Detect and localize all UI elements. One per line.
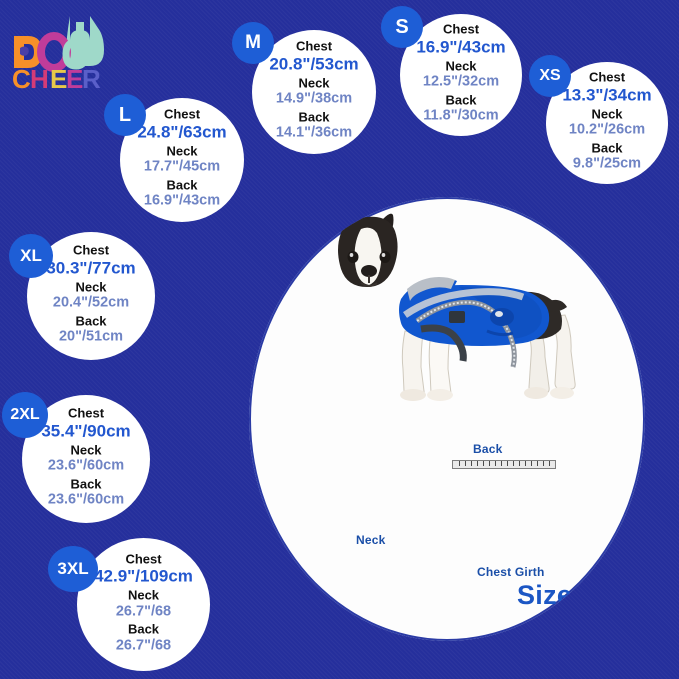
main-content-circle: Back Neck Chest Girth Size Tip: 1. Pleas… <box>249 197 645 641</box>
size-badge-2xl[interactable]: 2XL <box>2 392 48 438</box>
svg-text:E: E <box>50 64 67 94</box>
diagram-label-chest-girth: Chest Girth <box>477 565 545 579</box>
size-s-neck-label: Neck <box>406 60 516 75</box>
size-s-chest-value: 16.9"/43cm <box>406 37 516 57</box>
brand-logo: C H E E R <box>8 8 118 94</box>
size-badge-m[interactable]: M <box>232 22 274 64</box>
size-3xl-back-value: 26.7"/68 <box>83 638 204 655</box>
size-l-neck-value: 17.7"/45cm <box>126 159 238 176</box>
size-2xl-neck-value: 23.6"/60cm <box>28 458 144 475</box>
size-tip-item-1-number: 1. <box>517 624 529 641</box>
size-3xl-back-label: Back <box>83 623 204 638</box>
size-l-back-value: 16.9"/43cm <box>126 193 238 210</box>
size-xl-neck-label: Neck <box>33 281 149 296</box>
size-xl-neck-value: 20.4"/52cm <box>33 295 149 312</box>
size-xl-back-value: 20"/51cm <box>33 329 149 346</box>
size-3xl-neck-label: Neck <box>83 589 204 604</box>
size-xs-chest-value: 13.3"/34cm <box>552 85 662 105</box>
size-2xl-back-label: Back <box>28 477 144 492</box>
size-m-chest-value: 20.8"/53cm <box>258 54 370 74</box>
size-s-neck-value: 12.5"/32cm <box>406 74 516 91</box>
measuring-tape-icon <box>452 460 556 469</box>
size-2xl-back-value: 23.6"/60cm <box>28 492 144 509</box>
dog-photo <box>309 213 609 403</box>
size-3xl-neck-value: 26.7"/68 <box>83 604 204 621</box>
size-badge-l[interactable]: L <box>104 94 146 136</box>
size-bubble-3xl[interactable]: Chest 42.9"/109cm Neck 26.7"/68 Back 26.… <box>77 538 210 671</box>
size-xs-neck-label: Neck <box>552 108 662 123</box>
size-m-chest-label: Chest <box>258 40 370 55</box>
size-tip-item-1-text: Please measure your dog's back length,ch… <box>529 624 645 641</box>
size-xs-neck-value: 10.2"/26cm <box>552 122 662 139</box>
diagram-label-neck: Neck <box>356 533 386 547</box>
size-xs-back-value: 9.8"/25cm <box>552 156 662 173</box>
size-badge-3xl[interactable]: 3XL <box>48 546 98 592</box>
size-l-neck-label: Neck <box>126 145 238 160</box>
diagram-label-back: Back <box>473 442 503 456</box>
size-tip-item-1-line1: Please measure your dog's back length,ch… <box>529 625 645 641</box>
size-chart-page: C H E E R <box>0 0 679 679</box>
size-l-back-label: Back <box>126 178 238 193</box>
size-s-back-label: Back <box>406 93 516 108</box>
size-m-back-label: Back <box>258 110 370 125</box>
size-m-neck-label: Neck <box>258 77 370 92</box>
svg-text:C: C <box>12 64 31 94</box>
size-2xl-neck-label: Neck <box>28 444 144 459</box>
svg-text:E: E <box>66 64 83 94</box>
size-s-back-value: 11.8"/30cm <box>406 108 516 125</box>
size-xl-back-label: Back <box>33 314 149 329</box>
size-tip-item-1: 1. Please measure your dog's back length… <box>517 624 645 641</box>
size-tip-title: Size Tip: <box>517 580 645 611</box>
size-m-back-value: 14.1"/36cm <box>258 125 370 142</box>
size-m-neck-value: 14.9"/38cm <box>258 91 370 108</box>
size-badge-xl[interactable]: XL <box>9 234 53 278</box>
svg-text:R: R <box>82 64 101 94</box>
svg-text:H: H <box>30 64 49 94</box>
size-3xl-chest-value: 42.9"/109cm <box>83 567 204 587</box>
size-badge-xs[interactable]: XS <box>529 55 571 97</box>
size-3xl-chest-label: Chest <box>83 552 204 567</box>
size-badge-s[interactable]: S <box>381 6 423 48</box>
dog-head-icon: C H E E R <box>8 8 118 94</box>
size-xs-back-label: Back <box>552 141 662 156</box>
size-tip-block: Size Tip: 1. Please measure your dog's b… <box>517 580 645 641</box>
